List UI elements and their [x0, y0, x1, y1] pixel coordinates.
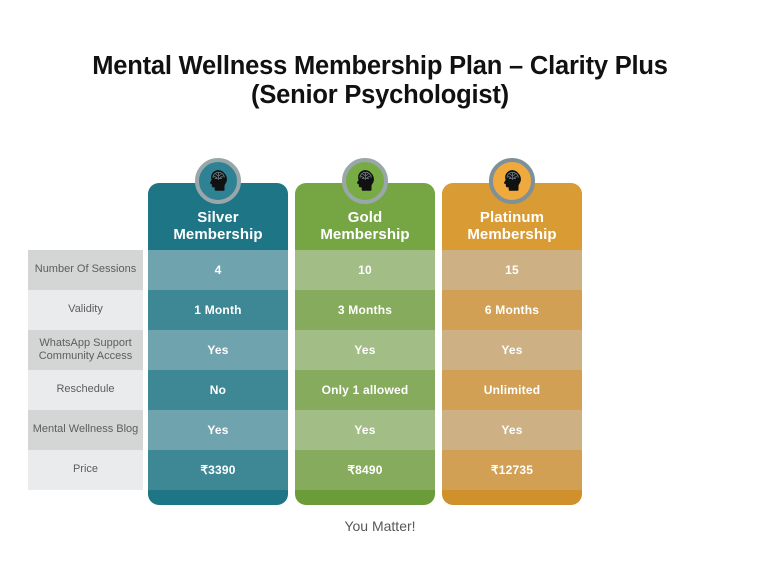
feature-label: WhatsApp Support Community Access	[28, 330, 143, 370]
plan-value-cell: 1 Month	[148, 290, 288, 330]
plan-column-footer	[295, 490, 435, 505]
plan-column-silver[interactable]: SilverMembership41 MonthYesNoYes₹3390	[148, 183, 288, 505]
plan-value-cell: ₹12735	[442, 450, 582, 490]
feature-label: Number Of Sessions	[28, 250, 143, 290]
plan-value-cell: Only 1 allowed	[295, 370, 435, 410]
plan-value-cell: 6 Months	[442, 290, 582, 330]
plan-value-cell: Yes	[295, 410, 435, 450]
plan-value-cell: Yes	[148, 330, 288, 370]
plan-value-cell: Yes	[442, 330, 582, 370]
plan-header-silver: SilverMembership	[148, 183, 288, 250]
feature-label-column: Number Of Sessions Validity WhatsApp Sup…	[28, 250, 143, 490]
plan-value-cell: Yes	[295, 330, 435, 370]
plan-value-cell: No	[148, 370, 288, 410]
plan-value-cell: ₹8490	[295, 450, 435, 490]
plan-value-cell: ₹3390	[148, 450, 288, 490]
title-line-2: (Senior Psychologist)	[0, 81, 760, 110]
plan-subtitle: Membership	[173, 226, 262, 243]
page-title: Mental Wellness Membership Plan – Clarit…	[0, 52, 760, 110]
footer-note: You Matter!	[0, 518, 760, 534]
plan-header-gold: GoldMembership	[295, 183, 435, 250]
plan-value-cell: 15	[442, 250, 582, 290]
plan-value-cell: Yes	[148, 410, 288, 450]
plan-column-platinum[interactable]: PlatinumMembership156 MonthsYesUnlimited…	[442, 183, 582, 505]
plan-value-cell: Unlimited	[442, 370, 582, 410]
plan-subtitle: Membership	[320, 226, 409, 243]
feature-label: Validity	[28, 290, 143, 330]
feature-label: Price	[28, 450, 143, 490]
plan-column-footer	[148, 490, 288, 505]
plan-name: Gold	[348, 209, 383, 226]
plan-value-cell: 3 Months	[295, 290, 435, 330]
feature-label: Mental Wellness Blog	[28, 410, 143, 450]
plan-column-gold[interactable]: GoldMembership103 MonthsYesOnly 1 allowe…	[295, 183, 435, 505]
feature-label: Reschedule	[28, 370, 143, 410]
brain-head-icon	[342, 158, 388, 204]
plan-subtitle: Membership	[467, 226, 556, 243]
membership-comparison-table: Number Of Sessions Validity WhatsApp Sup…	[28, 183, 588, 495]
plan-value-cell: 4	[148, 250, 288, 290]
brain-head-icon	[489, 158, 535, 204]
plan-value-cell: 10	[295, 250, 435, 290]
plan-name: Platinum	[480, 209, 544, 226]
plan-name: Silver	[197, 209, 238, 226]
plan-value-cell: Yes	[442, 410, 582, 450]
brain-head-icon	[195, 158, 241, 204]
title-line-1: Mental Wellness Membership Plan – Clarit…	[0, 52, 760, 81]
plan-column-footer	[442, 490, 582, 505]
plan-header-platinum: PlatinumMembership	[442, 183, 582, 250]
